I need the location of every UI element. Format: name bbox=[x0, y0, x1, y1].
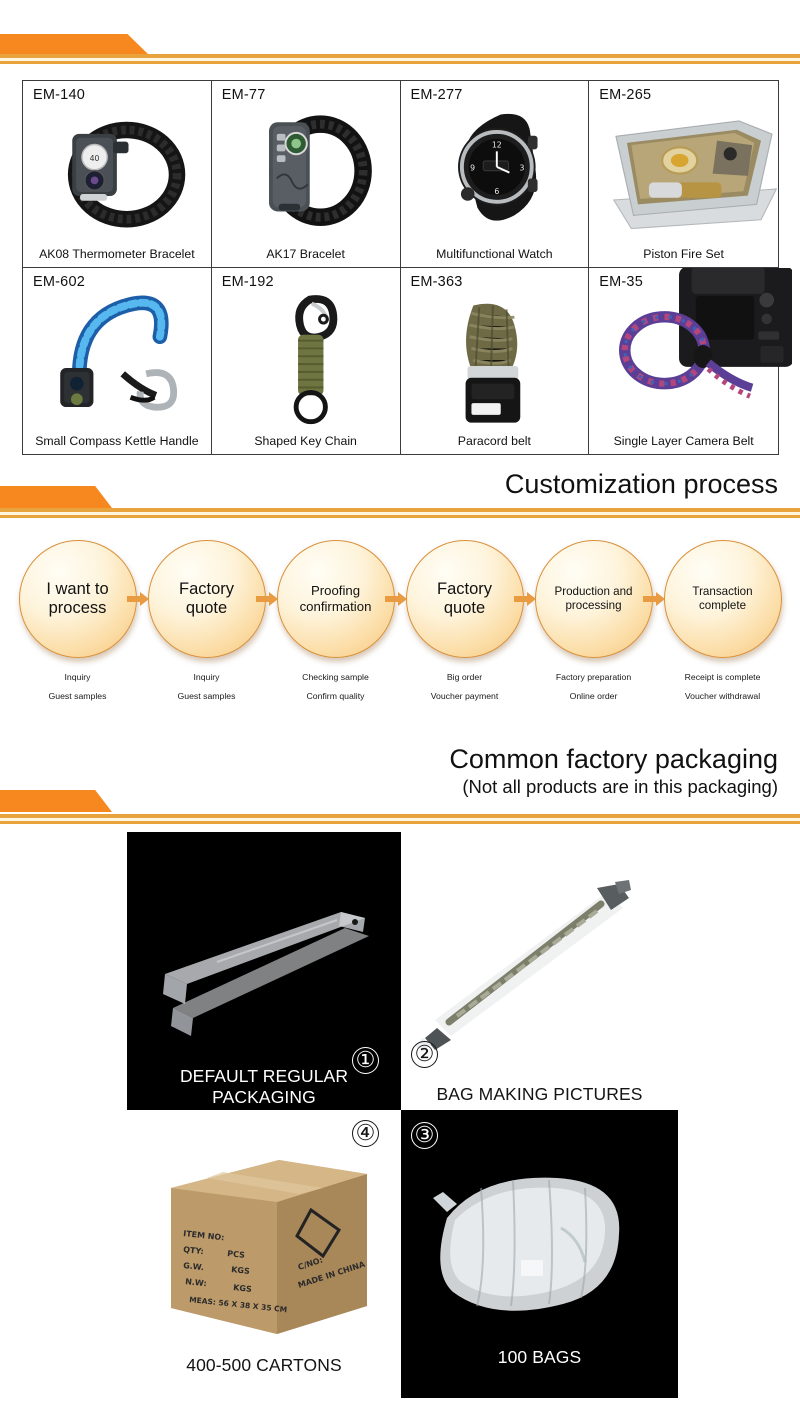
product-caption: Shaped Key Chain bbox=[212, 434, 400, 448]
process-arrow-icon bbox=[514, 592, 536, 606]
packaging-image-bagged-paracord-bracelet bbox=[401, 832, 678, 1110]
divider-rule-thin bbox=[0, 61, 800, 64]
packaging-panel-100-bags[interactable]: ③ 100 BAGS bbox=[401, 1110, 678, 1398]
svg-text:3: 3 bbox=[519, 164, 524, 173]
process-bubble: Proofing confirmation bbox=[277, 540, 395, 658]
process-bubble: Factory quote bbox=[406, 540, 524, 658]
process-sub-line-1: Checking sample bbox=[274, 672, 397, 682]
process-sub-line-1: Receipt is complete bbox=[661, 672, 784, 682]
process-step-1[interactable]: I want to process Inquiry Guest samples bbox=[16, 540, 139, 701]
product-caption: AK08 Thermometer Bracelet bbox=[23, 247, 211, 261]
product-detail-page: EM-140 40 A bbox=[0, 0, 800, 1408]
packaging-panel-number: ② bbox=[411, 1041, 438, 1068]
process-step-5[interactable]: Production and processing Factory prepar… bbox=[532, 540, 655, 701]
process-bubble: I want to process bbox=[19, 540, 137, 658]
process-step-label: I want to process bbox=[20, 580, 136, 619]
process-step-label: Transaction complete bbox=[665, 585, 781, 612]
svg-text:PCS: PCS bbox=[227, 1249, 246, 1260]
product-image-black-paracord-bracelet-compass-buckle bbox=[212, 97, 400, 243]
process-sub-line-1: Inquiry bbox=[16, 672, 139, 682]
process-bubble: Transaction complete bbox=[664, 540, 782, 658]
product-image-blue-paracord-handle-carabiner bbox=[23, 284, 211, 431]
product-cell[interactable]: EM-77 bbox=[212, 81, 401, 268]
process-step-label: Proofing confirmation bbox=[278, 583, 394, 614]
product-image-olive-paracord-keychain-carabiner bbox=[212, 284, 400, 431]
packaging-panel-default-regular-packaging[interactable]: ① DEFAULT REGULAR PACKAGING bbox=[127, 832, 401, 1110]
product-caption: AK17 Bracelet bbox=[212, 247, 400, 261]
process-step-2[interactable]: Factory quote Inquiry Guest samples bbox=[145, 540, 268, 701]
process-bubble: Production and processing bbox=[535, 540, 653, 658]
product-cell[interactable]: EM-602 Small Compass Ke bbox=[23, 268, 212, 455]
divider-rule-thin bbox=[0, 515, 800, 518]
packaging-panel-label: 100 BAGS bbox=[401, 1347, 678, 1368]
product-image-camo-woven-belt-buckle bbox=[401, 284, 589, 431]
process-step-3[interactable]: Proofing confirmation Checking sample Co… bbox=[274, 540, 397, 701]
process-sub-line-2: Online order bbox=[532, 691, 655, 701]
process-step-4[interactable]: Factory quote Big order Voucher payment bbox=[403, 540, 526, 701]
orange-wedge bbox=[0, 790, 112, 812]
process-step-label: Factory quote bbox=[149, 580, 265, 619]
process-sub-line-1: Inquiry bbox=[145, 672, 268, 682]
customization-divider-banner bbox=[0, 478, 800, 522]
packaging-panel-label: 400-500 CARTONS bbox=[127, 1355, 401, 1376]
product-cell[interactable]: EM-363 bbox=[401, 268, 590, 455]
process-arrow-icon bbox=[643, 592, 665, 606]
svg-text:40: 40 bbox=[90, 154, 100, 163]
process-sub-line-2: Confirm quality bbox=[274, 691, 397, 701]
process-step-label: Factory quote bbox=[407, 580, 523, 619]
product-code: EM-77 bbox=[222, 87, 266, 103]
orange-wedge bbox=[0, 34, 150, 56]
product-cell[interactable]: EM-277 12 3 6 9 bbox=[401, 81, 590, 268]
product-cell[interactable]: EM-35 bbox=[589, 268, 778, 455]
process-sub-line-1: Big order bbox=[403, 672, 526, 682]
top-divider-banner bbox=[0, 24, 800, 68]
process-step-sublabels: Inquiry Guest samples bbox=[145, 672, 268, 701]
process-step-sublabels: Inquiry Guest samples bbox=[16, 672, 139, 701]
process-sub-line-1: Factory preparation bbox=[532, 672, 655, 682]
process-bubble: Factory quote bbox=[148, 540, 266, 658]
process-sub-line-2: Guest samples bbox=[145, 691, 268, 701]
process-sub-line-2: Voucher withdrawal bbox=[661, 691, 784, 701]
product-caption: Small Compass Kettle Handle bbox=[23, 434, 211, 448]
packaging-panel-bag-making-pictures[interactable]: ② BAG MAKING PICTURES bbox=[401, 832, 678, 1110]
product-caption: Piston Fire Set bbox=[589, 247, 778, 261]
product-cell[interactable]: EM-265 Pis bbox=[589, 81, 778, 268]
process-arrow-icon bbox=[256, 592, 278, 606]
process-step-sublabels: Checking sample Confirm quality bbox=[274, 672, 397, 701]
divider-rule-thin bbox=[0, 821, 800, 824]
product-code: EM-265 bbox=[599, 87, 651, 103]
process-sub-line-2: Voucher payment bbox=[403, 691, 526, 701]
product-image-black-paracord-bracelet-compass: 40 bbox=[23, 97, 211, 243]
customization-process-flow: I want to process Inquiry Guest samples … bbox=[0, 540, 800, 720]
product-image-purple-paracord-camera-strap bbox=[583, 268, 792, 435]
product-caption: Paracord belt bbox=[401, 434, 589, 448]
process-step-sublabels: Receipt is complete Voucher withdrawal bbox=[661, 672, 784, 701]
product-code: EM-602 bbox=[33, 274, 85, 290]
process-sub-line-2: Guest samples bbox=[16, 691, 139, 701]
orange-wedge bbox=[0, 486, 112, 508]
packaging-panel-number: ④ bbox=[352, 1120, 379, 1147]
product-code: EM-277 bbox=[411, 87, 463, 103]
svg-text:12: 12 bbox=[491, 140, 501, 149]
packaging-panel-cartons[interactable]: ITEM NO: QTY: PCS G.W. KGS N.W: KGS MEAS… bbox=[127, 1110, 401, 1398]
product-caption: Multifunctional Watch bbox=[401, 247, 589, 261]
product-cell[interactable]: EM-140 40 A bbox=[23, 81, 212, 268]
process-step-label: Production and processing bbox=[536, 585, 652, 612]
product-code: EM-363 bbox=[411, 274, 463, 290]
process-arrow-icon bbox=[385, 592, 407, 606]
product-code: EM-140 bbox=[33, 87, 85, 103]
process-step-sublabels: Factory preparation Online order bbox=[532, 672, 655, 701]
packaging-panel-label: BAG MAKING PICTURES bbox=[401, 1084, 678, 1105]
product-image-metal-tin-fire-starter-kit bbox=[583, 81, 792, 247]
product-image-black-tactical-watch: 12 3 6 9 bbox=[401, 97, 589, 243]
process-step-sublabels: Big order Voucher payment bbox=[403, 672, 526, 701]
product-cell[interactable]: EM-192 bbox=[212, 268, 401, 455]
svg-text:6: 6 bbox=[494, 187, 499, 196]
packaging-panel-label: DEFAULT REGULAR PACKAGING bbox=[127, 1066, 401, 1108]
product-code: EM-35 bbox=[599, 274, 643, 290]
packaging-divider-banner bbox=[0, 784, 800, 828]
process-step-6[interactable]: Transaction complete Receipt is complete… bbox=[661, 540, 784, 701]
process-arrow-icon bbox=[127, 592, 149, 606]
packaging-title: Common factory packaging bbox=[449, 745, 778, 775]
packaging-gallery: ① DEFAULT REGULAR PACKAGING bbox=[0, 832, 800, 1404]
svg-text:9: 9 bbox=[470, 164, 475, 173]
product-caption: Single Layer Camera Belt bbox=[589, 434, 778, 448]
product-grid: EM-140 40 A bbox=[22, 80, 779, 455]
product-code: EM-192 bbox=[222, 274, 274, 290]
packaging-panel-number: ③ bbox=[411, 1122, 438, 1149]
